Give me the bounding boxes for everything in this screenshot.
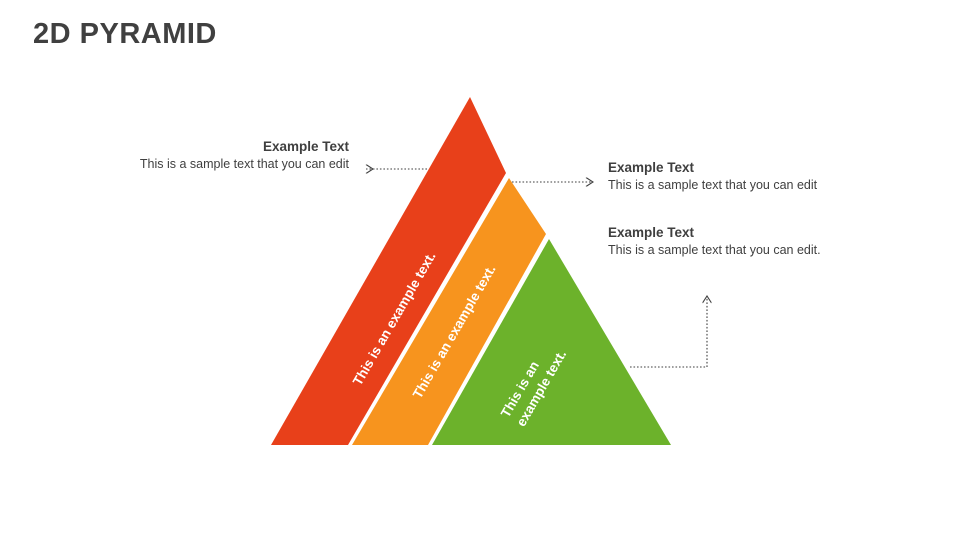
- callout-right-2-body: This is a sample text that you can edit.: [608, 243, 821, 257]
- slide-canvas: 2D PYRAMID This is an example text.: [0, 0, 960, 540]
- callout-left: Example Text This is a sample text that …: [140, 139, 349, 171]
- callout-right-1: Example Text This is a sample text that …: [608, 160, 817, 192]
- callout-right-2: Example Text This is a sample text that …: [608, 225, 821, 257]
- callout-right-2-heading: Example Text: [608, 225, 821, 240]
- callout-right-1-heading: Example Text: [608, 160, 817, 175]
- callout-left-body: This is a sample text that you can edit: [140, 157, 349, 171]
- connector-elbow-arrow-up: [630, 296, 707, 367]
- callout-left-heading: Example Text: [140, 139, 349, 154]
- pyramid-diagram: [0, 0, 960, 540]
- callout-right-1-body: This is a sample text that you can edit: [608, 178, 817, 192]
